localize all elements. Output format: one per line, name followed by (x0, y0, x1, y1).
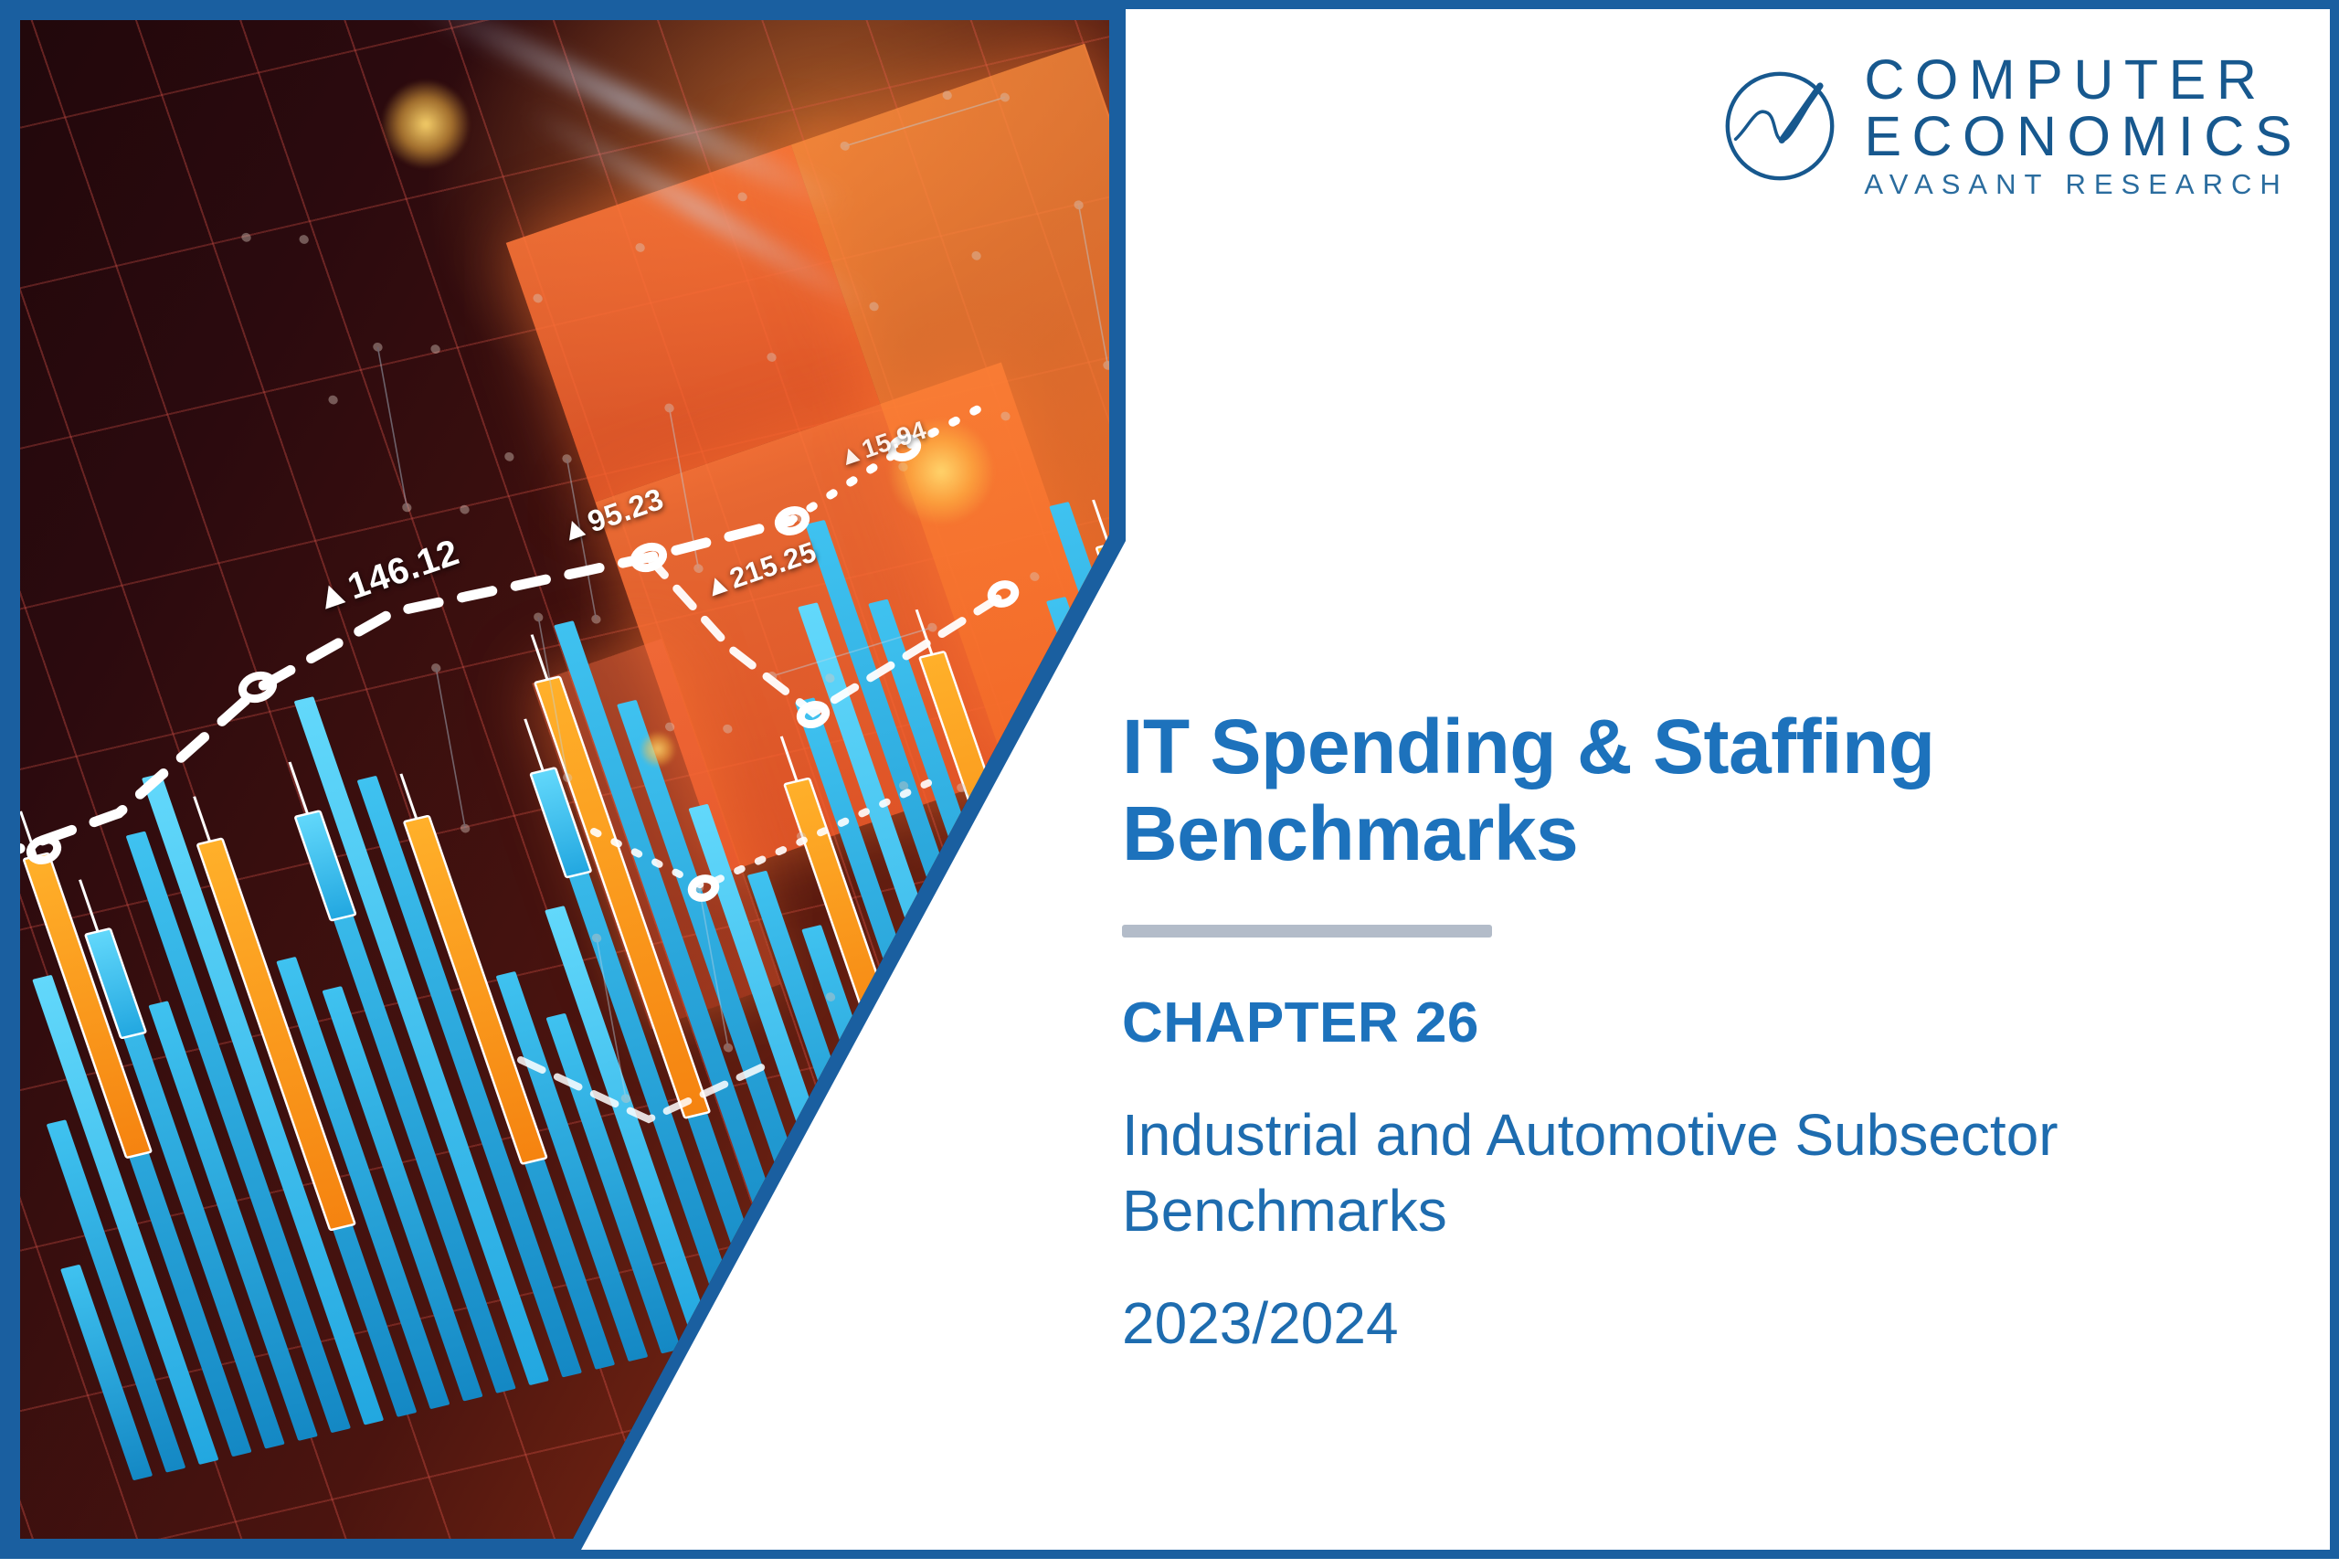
computer-economics-circle-chart-logo-icon (1720, 66, 1840, 186)
page-title: IT Spending & Staffing Benchmarks (1122, 704, 2200, 877)
bokeh-glow (382, 80, 470, 168)
brand-line-avasant-research: AVASANT RESEARCH (1864, 168, 2302, 201)
brand-line-economics: ECONOMICS (1864, 108, 2302, 164)
bar-chart-svg (9, 9, 1138, 1568)
edition-year: 2023/2024 (1122, 1289, 2310, 1357)
cover-text-block: IT Spending & Staffing Benchmarks CHAPTE… (1122, 704, 2310, 1357)
brand-logo: COMPUTER ECONOMICS AVASANT RESEARCH (1720, 51, 2302, 201)
cover-artwork: ▲146.12 ▲95.23 ▲215.25 ▲15.94 (9, 9, 1138, 1568)
brand-line-computer: COMPUTER (1864, 51, 2302, 108)
artwork-bar-field (9, 9, 1138, 1568)
cover-page: ▲146.12 ▲95.23 ▲215.25 ▲15.94 COMPUTER E… (0, 0, 2339, 1559)
chapter-subtitle: Industrial and Automotive Subsector Benc… (1122, 1097, 2127, 1249)
title-divider (1122, 925, 1492, 938)
artwork-inner: ▲146.12 ▲95.23 ▲215.25 ▲15.94 (9, 9, 1138, 1568)
brand-wordmark: COMPUTER ECONOMICS AVASANT RESEARCH (1864, 51, 2302, 201)
bokeh-glow (640, 731, 676, 768)
chapter-label: CHAPTER 26 (1122, 991, 2310, 1055)
